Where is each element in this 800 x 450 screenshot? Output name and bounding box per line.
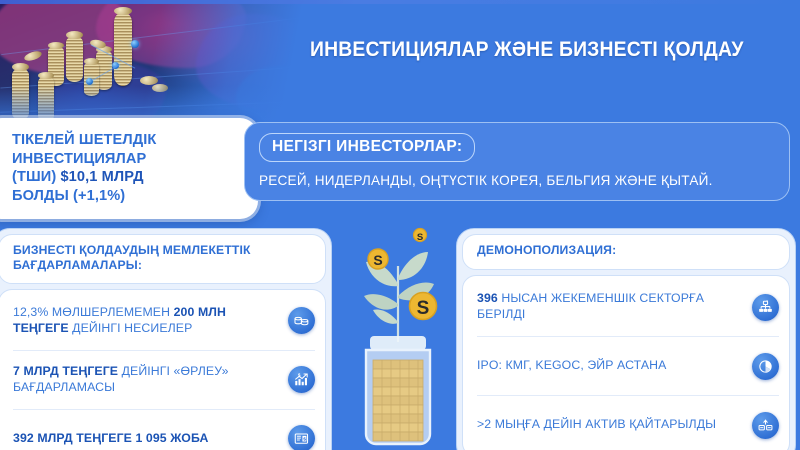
list-item: 392 МЛРД ТЕҢГЕГЕ 1 095 ЖОБА $ — [13, 410, 315, 450]
list-item: 7 МЛРД ТЕҢГЕГЕ ДЕЙІНГІ «ӨРЛЕУ» БАҒДАРЛАМ… — [13, 351, 315, 410]
key-investors-list: РЕСЕЙ, НИДЕРЛАНДЫ, ОҢТҮСТІК КОРЕЯ, БЕЛЬГ… — [259, 173, 775, 188]
asset-return-icon — [752, 412, 779, 439]
list-item: 12,3% МӨЛШЕРЛЕМЕМЕН 200 МЛН ТЕҢГЕГЕ ДЕЙІ… — [13, 292, 315, 351]
business-support-heading: БИЗНЕСТІ ҚОЛДАУДЫҢ МЕМЛЕКЕТТІК БАҒДАРЛАМ… — [0, 234, 326, 284]
coin-jar-icon — [366, 336, 430, 444]
hierarchy-chart-icon — [752, 294, 779, 321]
demono-row-2-text: IPO: КМГ, KEGOC, ЭЙР АСТАНА — [477, 358, 744, 374]
fdi-line-4: БОЛДЫ (+1,1%) — [12, 188, 125, 204]
fdi-line-2: ИНВЕСТИЦИЯЛАР — [12, 151, 146, 167]
list-item: 396 НЫСАН ЖЕКЕМЕНШІК СЕКТОРҒА БЕРІЛДІ — [477, 278, 779, 337]
svg-text:$: $ — [303, 436, 306, 442]
demono-row-3-text: >2 МЫҢҒА ДЕЙІН АКТИВ ҚАЙТАРЫЛДЫ — [477, 417, 744, 433]
demonopolization-heading: ДЕМОНОПОЛИЗАЦИЯ: — [462, 234, 790, 270]
business-row-1-text: 12,3% МӨЛШЕРЛЕМЕМЕН 200 МЛН ТЕҢГЕГЕ ДЕЙІ… — [13, 305, 280, 337]
demonopolization-panel: ДЕМОНОПОЛИЗАЦИЯ: 396 НЫСАН ЖЕКЕМЕНШІК СЕ… — [456, 228, 796, 450]
demono-row-1-suffix: НЫСАН ЖЕКЕМЕНШІК СЕКТОРҒА БЕРІЛДІ — [477, 291, 704, 321]
fdi-line-3-prefix: (ТШИ) — [12, 169, 60, 185]
dollar-coin-large-icon: S — [410, 293, 437, 320]
header-bar: ИНВЕСТИЦИЯЛАР ЖӘНЕ БИЗНЕСТІ ҚОЛДАУ — [310, 24, 800, 74]
fdi-highlight-card: ТІКЕЛЕЙ ШЕТЕЛДІК ИНВЕСТИЦИЯЛАР (ТШИ) $10… — [0, 118, 258, 219]
infographic-canvas: ИНВЕСТИЦИЯЛАР ЖӘНЕ БИЗНЕСТІ ҚОЛДАУ ТІКЕЛ… — [0, 0, 800, 450]
dollar-coin-small-icon: S — [414, 229, 427, 243]
fdi-amount-value: $10,1 МЛРД — [60, 169, 143, 185]
invoice-document-icon: $ — [288, 425, 315, 450]
svg-text:S: S — [417, 298, 430, 319]
fdi-card-text: ТІКЕЛЕЙ ШЕТЕЛДІК ИНВЕСТИЦИЯЛАР (ТШИ) $10… — [12, 131, 244, 206]
list-item: IPO: КМГ, KEGOC, ЭЙР АСТАНА — [477, 337, 779, 396]
demono-row-1-bold: 396 — [477, 291, 498, 305]
svg-text:$: $ — [298, 372, 301, 378]
key-investors-heading: НЕГІЗГІ ИНВЕСТОРЛАР: — [259, 133, 475, 162]
business-row-2-bold: 7 МЛРД ТЕҢГЕГЕ — [13, 364, 118, 378]
demono-row-2-prefix: IPO: КМГ, KEGOC, ЭЙР АСТАНА — [477, 358, 666, 372]
svg-text:S: S — [417, 232, 423, 243]
business-support-panel: БИЗНЕСТІ ҚОЛДАУДЫҢ МЕМЛЕКЕТТІК БАҒДАРЛАМ… — [0, 228, 332, 450]
money-jar-with-plant-illustration: S S S — [340, 222, 456, 450]
demonopolization-rows: 396 НЫСАН ЖЕКЕМЕНШІК СЕКТОРҒА БЕРІЛДІ I — [462, 275, 790, 450]
business-row-3-text: 392 МЛРД ТЕҢГЕГЕ 1 095 ЖОБА — [13, 431, 280, 447]
coin-stacks-icon — [288, 307, 315, 334]
pie-chart-icon — [752, 353, 779, 380]
business-row-3-bold: 392 МЛРД ТЕҢГЕГЕ 1 095 ЖОБА — [13, 431, 208, 445]
top-accent-strip — [0, 0, 800, 4]
page-title: ИНВЕСТИЦИЯЛАР ЖӘНЕ БИЗНЕСТІ ҚОЛДАУ — [310, 37, 744, 62]
svg-text:S: S — [373, 252, 382, 268]
dollar-coin-medium-icon: S — [368, 249, 388, 269]
demono-row-3-prefix: >2 МЫҢҒА ДЕЙІН АКТИВ ҚАЙТАРЫЛДЫ — [477, 417, 716, 431]
fdi-line-1: ТІКЕЛЕЙ ШЕТЕЛДІК — [12, 132, 156, 148]
business-row-2-text: 7 МЛРД ТЕҢГЕГЕ ДЕЙІНГІ «ӨРЛЕУ» БАҒДАРЛАМ… — [13, 364, 280, 396]
list-item: >2 МЫҢҒА ДЕЙІН АКТИВ ҚАЙТАРЫЛДЫ — [477, 396, 779, 450]
business-row-1-suffix: ДЕЙІНГІ НЕСИЕЛЕР — [69, 321, 193, 335]
business-support-rows: 12,3% МӨЛШЕРЛЕМЕМЕН 200 МЛН ТЕҢГЕГЕ ДЕЙІ… — [0, 289, 326, 450]
growth-chart-icon: $ — [288, 366, 315, 393]
demono-row-1-text: 396 НЫСАН ЖЕКЕМЕНШІК СЕКТОРҒА БЕРІЛДІ — [477, 291, 744, 323]
key-investors-panel: НЕГІЗГІ ИНВЕСТОРЛАР: РЕСЕЙ, НИДЕРЛАНДЫ, … — [244, 122, 790, 201]
business-row-1-prefix: 12,3% МӨЛШЕРЛЕМЕМЕН — [13, 305, 174, 319]
world-map-coins-background — [0, 0, 330, 132]
